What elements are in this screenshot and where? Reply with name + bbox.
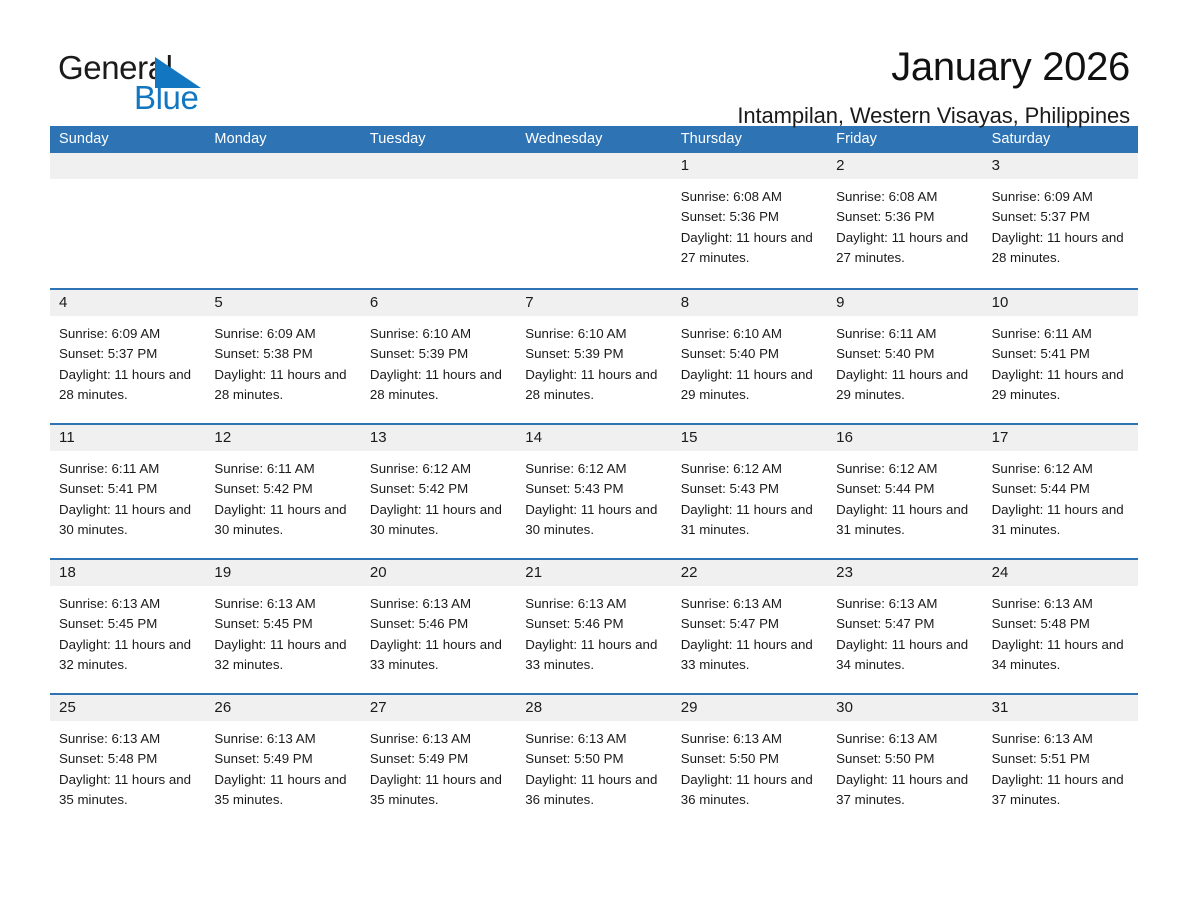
day-number: 15 (672, 425, 827, 451)
day-number: 19 (205, 560, 360, 586)
sunset-text: Sunset: 5:44 PM (836, 479, 973, 499)
day-sun-info: Sunrise: 6:13 AMSunset: 5:48 PMDaylight:… (983, 586, 1138, 675)
sunrise-text: Sunrise: 6:13 AM (59, 594, 196, 614)
day-number: 9 (827, 290, 982, 316)
sunrise-text: Sunrise: 6:12 AM (525, 459, 662, 479)
sunset-text: Sunset: 5:36 PM (836, 207, 973, 227)
daylight-text: Daylight: 11 hours and 28 minutes. (214, 365, 351, 406)
weekday-header-thursday: Thursday (672, 126, 827, 153)
sunrise-text: Sunrise: 6:13 AM (59, 729, 196, 749)
sunrise-text: Sunrise: 6:13 AM (525, 594, 662, 614)
day-number: 13 (361, 425, 516, 451)
daylight-text: Daylight: 11 hours and 31 minutes. (681, 500, 818, 541)
day-cell[interactable]: 28Sunrise: 6:13 AMSunset: 5:50 PMDayligh… (516, 695, 671, 828)
day-sun-info: Sunrise: 6:09 AMSunset: 5:38 PMDaylight:… (205, 316, 360, 405)
day-cell[interactable]: 25Sunrise: 6:13 AMSunset: 5:48 PMDayligh… (50, 695, 205, 828)
day-sun-info: Sunrise: 6:12 AMSunset: 5:44 PMDaylight:… (983, 451, 1138, 540)
day-sun-info: Sunrise: 6:13 AMSunset: 5:45 PMDaylight:… (205, 586, 360, 675)
logo-text-blue: Blue (134, 80, 198, 116)
day-number: 4 (50, 290, 205, 316)
sunset-text: Sunset: 5:46 PM (525, 614, 662, 634)
day-number: 5 (205, 290, 360, 316)
day-sun-info: Sunrise: 6:13 AMSunset: 5:47 PMDaylight:… (672, 586, 827, 675)
day-cell[interactable]: 1Sunrise: 6:08 AMSunset: 5:36 PMDaylight… (672, 153, 827, 288)
sunset-text: Sunset: 5:40 PM (681, 344, 818, 364)
daylight-text: Daylight: 11 hours and 30 minutes. (525, 500, 662, 541)
day-sun-info: Sunrise: 6:11 AMSunset: 5:41 PMDaylight:… (50, 451, 205, 540)
day-cell-empty (205, 153, 360, 288)
day-number: 10 (983, 290, 1138, 316)
day-number: 14 (516, 425, 671, 451)
sunset-text: Sunset: 5:40 PM (836, 344, 973, 364)
sunset-text: Sunset: 5:42 PM (214, 479, 351, 499)
day-number: 17 (983, 425, 1138, 451)
daylight-text: Daylight: 11 hours and 37 minutes. (836, 770, 973, 811)
daylight-text: Daylight: 11 hours and 29 minutes. (681, 365, 818, 406)
daylight-text: Daylight: 11 hours and 33 minutes. (370, 635, 507, 676)
daylight-text: Daylight: 11 hours and 35 minutes. (214, 770, 351, 811)
sunset-text: Sunset: 5:48 PM (992, 614, 1129, 634)
day-number: 23 (827, 560, 982, 586)
daylight-text: Daylight: 11 hours and 28 minutes. (992, 228, 1129, 269)
calendar-weeks: 1Sunrise: 6:08 AMSunset: 5:36 PMDaylight… (50, 153, 1138, 828)
daylight-text: Daylight: 11 hours and 29 minutes. (992, 365, 1129, 406)
day-cell[interactable]: 22Sunrise: 6:13 AMSunset: 5:47 PMDayligh… (672, 560, 827, 693)
page-title: January 2026 (268, 44, 1130, 91)
daylight-text: Daylight: 11 hours and 29 minutes. (836, 365, 973, 406)
weekday-header-saturday: Saturday (983, 126, 1138, 153)
sunrise-text: Sunrise: 6:13 AM (214, 729, 351, 749)
sunrise-text: Sunrise: 6:12 AM (836, 459, 973, 479)
sunrise-text: Sunrise: 6:12 AM (681, 459, 818, 479)
day-number: 22 (672, 560, 827, 586)
day-cell-empty (50, 153, 205, 288)
day-number: 26 (205, 695, 360, 721)
sunset-text: Sunset: 5:51 PM (992, 749, 1129, 769)
day-number (205, 153, 360, 179)
day-cell[interactable]: 4Sunrise: 6:09 AMSunset: 5:37 PMDaylight… (50, 290, 205, 423)
sunset-text: Sunset: 5:50 PM (681, 749, 818, 769)
sunrise-text: Sunrise: 6:13 AM (836, 729, 973, 749)
day-sun-info: Sunrise: 6:13 AMSunset: 5:47 PMDaylight:… (827, 586, 982, 675)
sunrise-text: Sunrise: 6:09 AM (214, 324, 351, 344)
calendar-week-row: 1Sunrise: 6:08 AMSunset: 5:36 PMDaylight… (50, 153, 1138, 288)
daylight-text: Daylight: 11 hours and 34 minutes. (992, 635, 1129, 676)
day-cell-empty (361, 153, 516, 288)
day-number (516, 153, 671, 179)
sunset-text: Sunset: 5:43 PM (525, 479, 662, 499)
sunset-text: Sunset: 5:36 PM (681, 207, 818, 227)
day-sun-info: Sunrise: 6:12 AMSunset: 5:43 PMDaylight:… (672, 451, 827, 540)
day-cell[interactable]: 23Sunrise: 6:13 AMSunset: 5:47 PMDayligh… (827, 560, 982, 693)
day-number (50, 153, 205, 179)
day-sun-info: Sunrise: 6:10 AMSunset: 5:39 PMDaylight:… (361, 316, 516, 405)
weekday-header-wednesday: Wednesday (516, 126, 671, 153)
day-cell[interactable]: 6Sunrise: 6:10 AMSunset: 5:39 PMDaylight… (361, 290, 516, 423)
day-cell[interactable]: 30Sunrise: 6:13 AMSunset: 5:50 PMDayligh… (827, 695, 982, 828)
sunrise-text: Sunrise: 6:13 AM (681, 594, 818, 614)
day-number: 3 (983, 153, 1138, 179)
day-number: 28 (516, 695, 671, 721)
day-sun-info: Sunrise: 6:13 AMSunset: 5:45 PMDaylight:… (50, 586, 205, 675)
day-sun-info: Sunrise: 6:13 AMSunset: 5:49 PMDaylight:… (361, 721, 516, 810)
daylight-text: Daylight: 11 hours and 35 minutes. (59, 770, 196, 811)
weekday-header-row: SundayMondayTuesdayWednesdayThursdayFrid… (50, 126, 1138, 153)
sunset-text: Sunset: 5:41 PM (992, 344, 1129, 364)
sunrise-text: Sunrise: 6:13 AM (525, 729, 662, 749)
day-cell[interactable]: 24Sunrise: 6:13 AMSunset: 5:48 PMDayligh… (983, 560, 1138, 693)
day-number: 8 (672, 290, 827, 316)
daylight-text: Daylight: 11 hours and 32 minutes. (214, 635, 351, 676)
sunrise-text: Sunrise: 6:13 AM (992, 729, 1129, 749)
daylight-text: Daylight: 11 hours and 32 minutes. (59, 635, 196, 676)
daylight-text: Daylight: 11 hours and 28 minutes. (59, 365, 196, 406)
daylight-text: Daylight: 11 hours and 27 minutes. (836, 228, 973, 269)
day-sun-info: Sunrise: 6:13 AMSunset: 5:49 PMDaylight:… (205, 721, 360, 810)
day-sun-info: Sunrise: 6:09 AMSunset: 5:37 PMDaylight:… (983, 179, 1138, 268)
calendar-week-row: 25Sunrise: 6:13 AMSunset: 5:48 PMDayligh… (50, 693, 1138, 828)
sunset-text: Sunset: 5:48 PM (59, 749, 196, 769)
daylight-text: Daylight: 11 hours and 35 minutes. (370, 770, 507, 811)
sunrise-text: Sunrise: 6:10 AM (525, 324, 662, 344)
sunrise-text: Sunrise: 6:13 AM (836, 594, 973, 614)
generalblue-logo[interactable]: General Blue (58, 44, 268, 116)
sunset-text: Sunset: 5:42 PM (370, 479, 507, 499)
day-number: 1 (672, 153, 827, 179)
day-sun-info: Sunrise: 6:13 AMSunset: 5:46 PMDaylight:… (516, 586, 671, 675)
sunset-text: Sunset: 5:49 PM (370, 749, 507, 769)
sunrise-text: Sunrise: 6:12 AM (992, 459, 1129, 479)
sunset-text: Sunset: 5:37 PM (992, 207, 1129, 227)
daylight-text: Daylight: 11 hours and 36 minutes. (525, 770, 662, 811)
sunset-text: Sunset: 5:46 PM (370, 614, 507, 634)
day-number: 25 (50, 695, 205, 721)
sunset-text: Sunset: 5:44 PM (992, 479, 1129, 499)
day-cell[interactable]: 8Sunrise: 6:10 AMSunset: 5:40 PMDaylight… (672, 290, 827, 423)
sunrise-text: Sunrise: 6:11 AM (214, 459, 351, 479)
daylight-text: Daylight: 11 hours and 28 minutes. (370, 365, 507, 406)
daylight-text: Daylight: 11 hours and 36 minutes. (681, 770, 818, 811)
day-sun-info: Sunrise: 6:13 AMSunset: 5:50 PMDaylight:… (827, 721, 982, 810)
day-cell[interactable]: 26Sunrise: 6:13 AMSunset: 5:49 PMDayligh… (205, 695, 360, 828)
day-number: 12 (205, 425, 360, 451)
day-sun-info: Sunrise: 6:13 AMSunset: 5:50 PMDaylight:… (516, 721, 671, 810)
day-number: 29 (672, 695, 827, 721)
daylight-text: Daylight: 11 hours and 27 minutes. (681, 228, 818, 269)
weekday-header-tuesday: Tuesday (361, 126, 516, 153)
day-cell[interactable]: 29Sunrise: 6:13 AMSunset: 5:50 PMDayligh… (672, 695, 827, 828)
day-number: 7 (516, 290, 671, 316)
day-number: 31 (983, 695, 1138, 721)
day-number: 2 (827, 153, 982, 179)
day-cell[interactable]: 21Sunrise: 6:13 AMSunset: 5:46 PMDayligh… (516, 560, 671, 693)
weekday-header-sunday: Sunday (50, 126, 205, 153)
day-number: 24 (983, 560, 1138, 586)
sunset-text: Sunset: 5:47 PM (836, 614, 973, 634)
day-cell[interactable]: 16Sunrise: 6:12 AMSunset: 5:44 PMDayligh… (827, 425, 982, 558)
sunrise-text: Sunrise: 6:13 AM (681, 729, 818, 749)
day-number: 18 (50, 560, 205, 586)
sunrise-text: Sunrise: 6:09 AM (59, 324, 196, 344)
day-cell[interactable]: 17Sunrise: 6:12 AMSunset: 5:44 PMDayligh… (983, 425, 1138, 558)
day-cell[interactable]: 3Sunrise: 6:09 AMSunset: 5:37 PMDaylight… (983, 153, 1138, 288)
day-sun-info: Sunrise: 6:12 AMSunset: 5:42 PMDaylight:… (361, 451, 516, 540)
sunset-text: Sunset: 5:39 PM (525, 344, 662, 364)
sunrise-text: Sunrise: 6:10 AM (370, 324, 507, 344)
day-sun-info: Sunrise: 6:13 AMSunset: 5:51 PMDaylight:… (983, 721, 1138, 810)
day-number: 11 (50, 425, 205, 451)
day-cell[interactable]: 5Sunrise: 6:09 AMSunset: 5:38 PMDaylight… (205, 290, 360, 423)
day-sun-info: Sunrise: 6:10 AMSunset: 5:39 PMDaylight:… (516, 316, 671, 405)
daylight-text: Daylight: 11 hours and 30 minutes. (214, 500, 351, 541)
day-sun-info: Sunrise: 6:09 AMSunset: 5:37 PMDaylight:… (50, 316, 205, 405)
daylight-text: Daylight: 11 hours and 33 minutes. (681, 635, 818, 676)
day-cell[interactable]: 20Sunrise: 6:13 AMSunset: 5:46 PMDayligh… (361, 560, 516, 693)
day-cell[interactable]: 15Sunrise: 6:12 AMSunset: 5:43 PMDayligh… (672, 425, 827, 558)
day-number: 20 (361, 560, 516, 586)
day-sun-info: Sunrise: 6:12 AMSunset: 5:43 PMDaylight:… (516, 451, 671, 540)
sunset-text: Sunset: 5:50 PM (525, 749, 662, 769)
sunset-text: Sunset: 5:37 PM (59, 344, 196, 364)
sunset-text: Sunset: 5:39 PM (370, 344, 507, 364)
day-sun-info: Sunrise: 6:11 AMSunset: 5:40 PMDaylight:… (827, 316, 982, 405)
day-sun-info: Sunrise: 6:11 AMSunset: 5:42 PMDaylight:… (205, 451, 360, 540)
daylight-text: Daylight: 11 hours and 30 minutes. (59, 500, 196, 541)
sunrise-text: Sunrise: 6:11 AM (992, 324, 1129, 344)
daylight-text: Daylight: 11 hours and 31 minutes. (992, 500, 1129, 541)
day-number (361, 153, 516, 179)
daylight-text: Daylight: 11 hours and 31 minutes. (836, 500, 973, 541)
day-sun-info: Sunrise: 6:08 AMSunset: 5:36 PMDaylight:… (672, 179, 827, 268)
sunset-text: Sunset: 5:45 PM (59, 614, 196, 634)
sunrise-text: Sunrise: 6:13 AM (370, 729, 507, 749)
day-number: 16 (827, 425, 982, 451)
day-sun-info: Sunrise: 6:08 AMSunset: 5:36 PMDaylight:… (827, 179, 982, 268)
weekday-header-monday: Monday (205, 126, 360, 153)
page-header: General Blue January 2026 Intampilan, We… (0, 0, 1188, 112)
daylight-text: Daylight: 11 hours and 34 minutes. (836, 635, 973, 676)
daylight-text: Daylight: 11 hours and 28 minutes. (525, 365, 662, 406)
day-sun-info: Sunrise: 6:12 AMSunset: 5:44 PMDaylight:… (827, 451, 982, 540)
sunrise-text: Sunrise: 6:11 AM (836, 324, 973, 344)
day-cell-empty (516, 153, 671, 288)
title-block: January 2026 Intampilan, Western Visayas… (268, 44, 1130, 129)
day-sun-info: Sunrise: 6:11 AMSunset: 5:41 PMDaylight:… (983, 316, 1138, 405)
day-number: 6 (361, 290, 516, 316)
day-cell[interactable]: 12Sunrise: 6:11 AMSunset: 5:42 PMDayligh… (205, 425, 360, 558)
day-sun-info: Sunrise: 6:13 AMSunset: 5:46 PMDaylight:… (361, 586, 516, 675)
sunrise-text: Sunrise: 6:11 AM (59, 459, 196, 479)
day-sun-info: Sunrise: 6:10 AMSunset: 5:40 PMDaylight:… (672, 316, 827, 405)
calendar-page: General Blue January 2026 Intampilan, We… (0, 0, 1188, 918)
calendar-week-row: 11Sunrise: 6:11 AMSunset: 5:41 PMDayligh… (50, 423, 1138, 558)
calendar-week-row: 4Sunrise: 6:09 AMSunset: 5:37 PMDaylight… (50, 288, 1138, 423)
sunrise-text: Sunrise: 6:08 AM (836, 187, 973, 207)
day-sun-info: Sunrise: 6:13 AMSunset: 5:48 PMDaylight:… (50, 721, 205, 810)
daylight-text: Daylight: 11 hours and 30 minutes. (370, 500, 507, 541)
sunrise-text: Sunrise: 6:08 AM (681, 187, 818, 207)
sunset-text: Sunset: 5:43 PM (681, 479, 818, 499)
day-cell[interactable]: 11Sunrise: 6:11 AMSunset: 5:41 PMDayligh… (50, 425, 205, 558)
sunrise-text: Sunrise: 6:13 AM (370, 594, 507, 614)
day-number: 30 (827, 695, 982, 721)
sunrise-text: Sunrise: 6:10 AM (681, 324, 818, 344)
daylight-text: Daylight: 11 hours and 37 minutes. (992, 770, 1129, 811)
day-cell[interactable]: 13Sunrise: 6:12 AMSunset: 5:42 PMDayligh… (361, 425, 516, 558)
weekday-header-friday: Friday (827, 126, 982, 153)
calendar-grid: SundayMondayTuesdayWednesdayThursdayFrid… (50, 126, 1138, 828)
sunset-text: Sunset: 5:49 PM (214, 749, 351, 769)
sunset-text: Sunset: 5:47 PM (681, 614, 818, 634)
day-cell[interactable]: 31Sunrise: 6:13 AMSunset: 5:51 PMDayligh… (983, 695, 1138, 828)
day-cell[interactable]: 18Sunrise: 6:13 AMSunset: 5:45 PMDayligh… (50, 560, 205, 693)
sunrise-text: Sunrise: 6:13 AM (214, 594, 351, 614)
sunrise-text: Sunrise: 6:09 AM (992, 187, 1129, 207)
day-number: 21 (516, 560, 671, 586)
day-cell[interactable]: 14Sunrise: 6:12 AMSunset: 5:43 PMDayligh… (516, 425, 671, 558)
sunset-text: Sunset: 5:41 PM (59, 479, 196, 499)
sunrise-text: Sunrise: 6:13 AM (992, 594, 1129, 614)
sunset-text: Sunset: 5:45 PM (214, 614, 351, 634)
sunset-text: Sunset: 5:38 PM (214, 344, 351, 364)
sunrise-text: Sunrise: 6:12 AM (370, 459, 507, 479)
day-cell[interactable]: 7Sunrise: 6:10 AMSunset: 5:39 PMDaylight… (516, 290, 671, 423)
day-cell[interactable]: 2Sunrise: 6:08 AMSunset: 5:36 PMDaylight… (827, 153, 982, 288)
sunset-text: Sunset: 5:50 PM (836, 749, 973, 769)
day-sun-info: Sunrise: 6:13 AMSunset: 5:50 PMDaylight:… (672, 721, 827, 810)
day-number: 27 (361, 695, 516, 721)
day-cell[interactable]: 19Sunrise: 6:13 AMSunset: 5:45 PMDayligh… (205, 560, 360, 693)
day-cell[interactable]: 27Sunrise: 6:13 AMSunset: 5:49 PMDayligh… (361, 695, 516, 828)
daylight-text: Daylight: 11 hours and 33 minutes. (525, 635, 662, 676)
day-cell[interactable]: 9Sunrise: 6:11 AMSunset: 5:40 PMDaylight… (827, 290, 982, 423)
day-cell[interactable]: 10Sunrise: 6:11 AMSunset: 5:41 PMDayligh… (983, 290, 1138, 423)
calendar-week-row: 18Sunrise: 6:13 AMSunset: 5:45 PMDayligh… (50, 558, 1138, 693)
